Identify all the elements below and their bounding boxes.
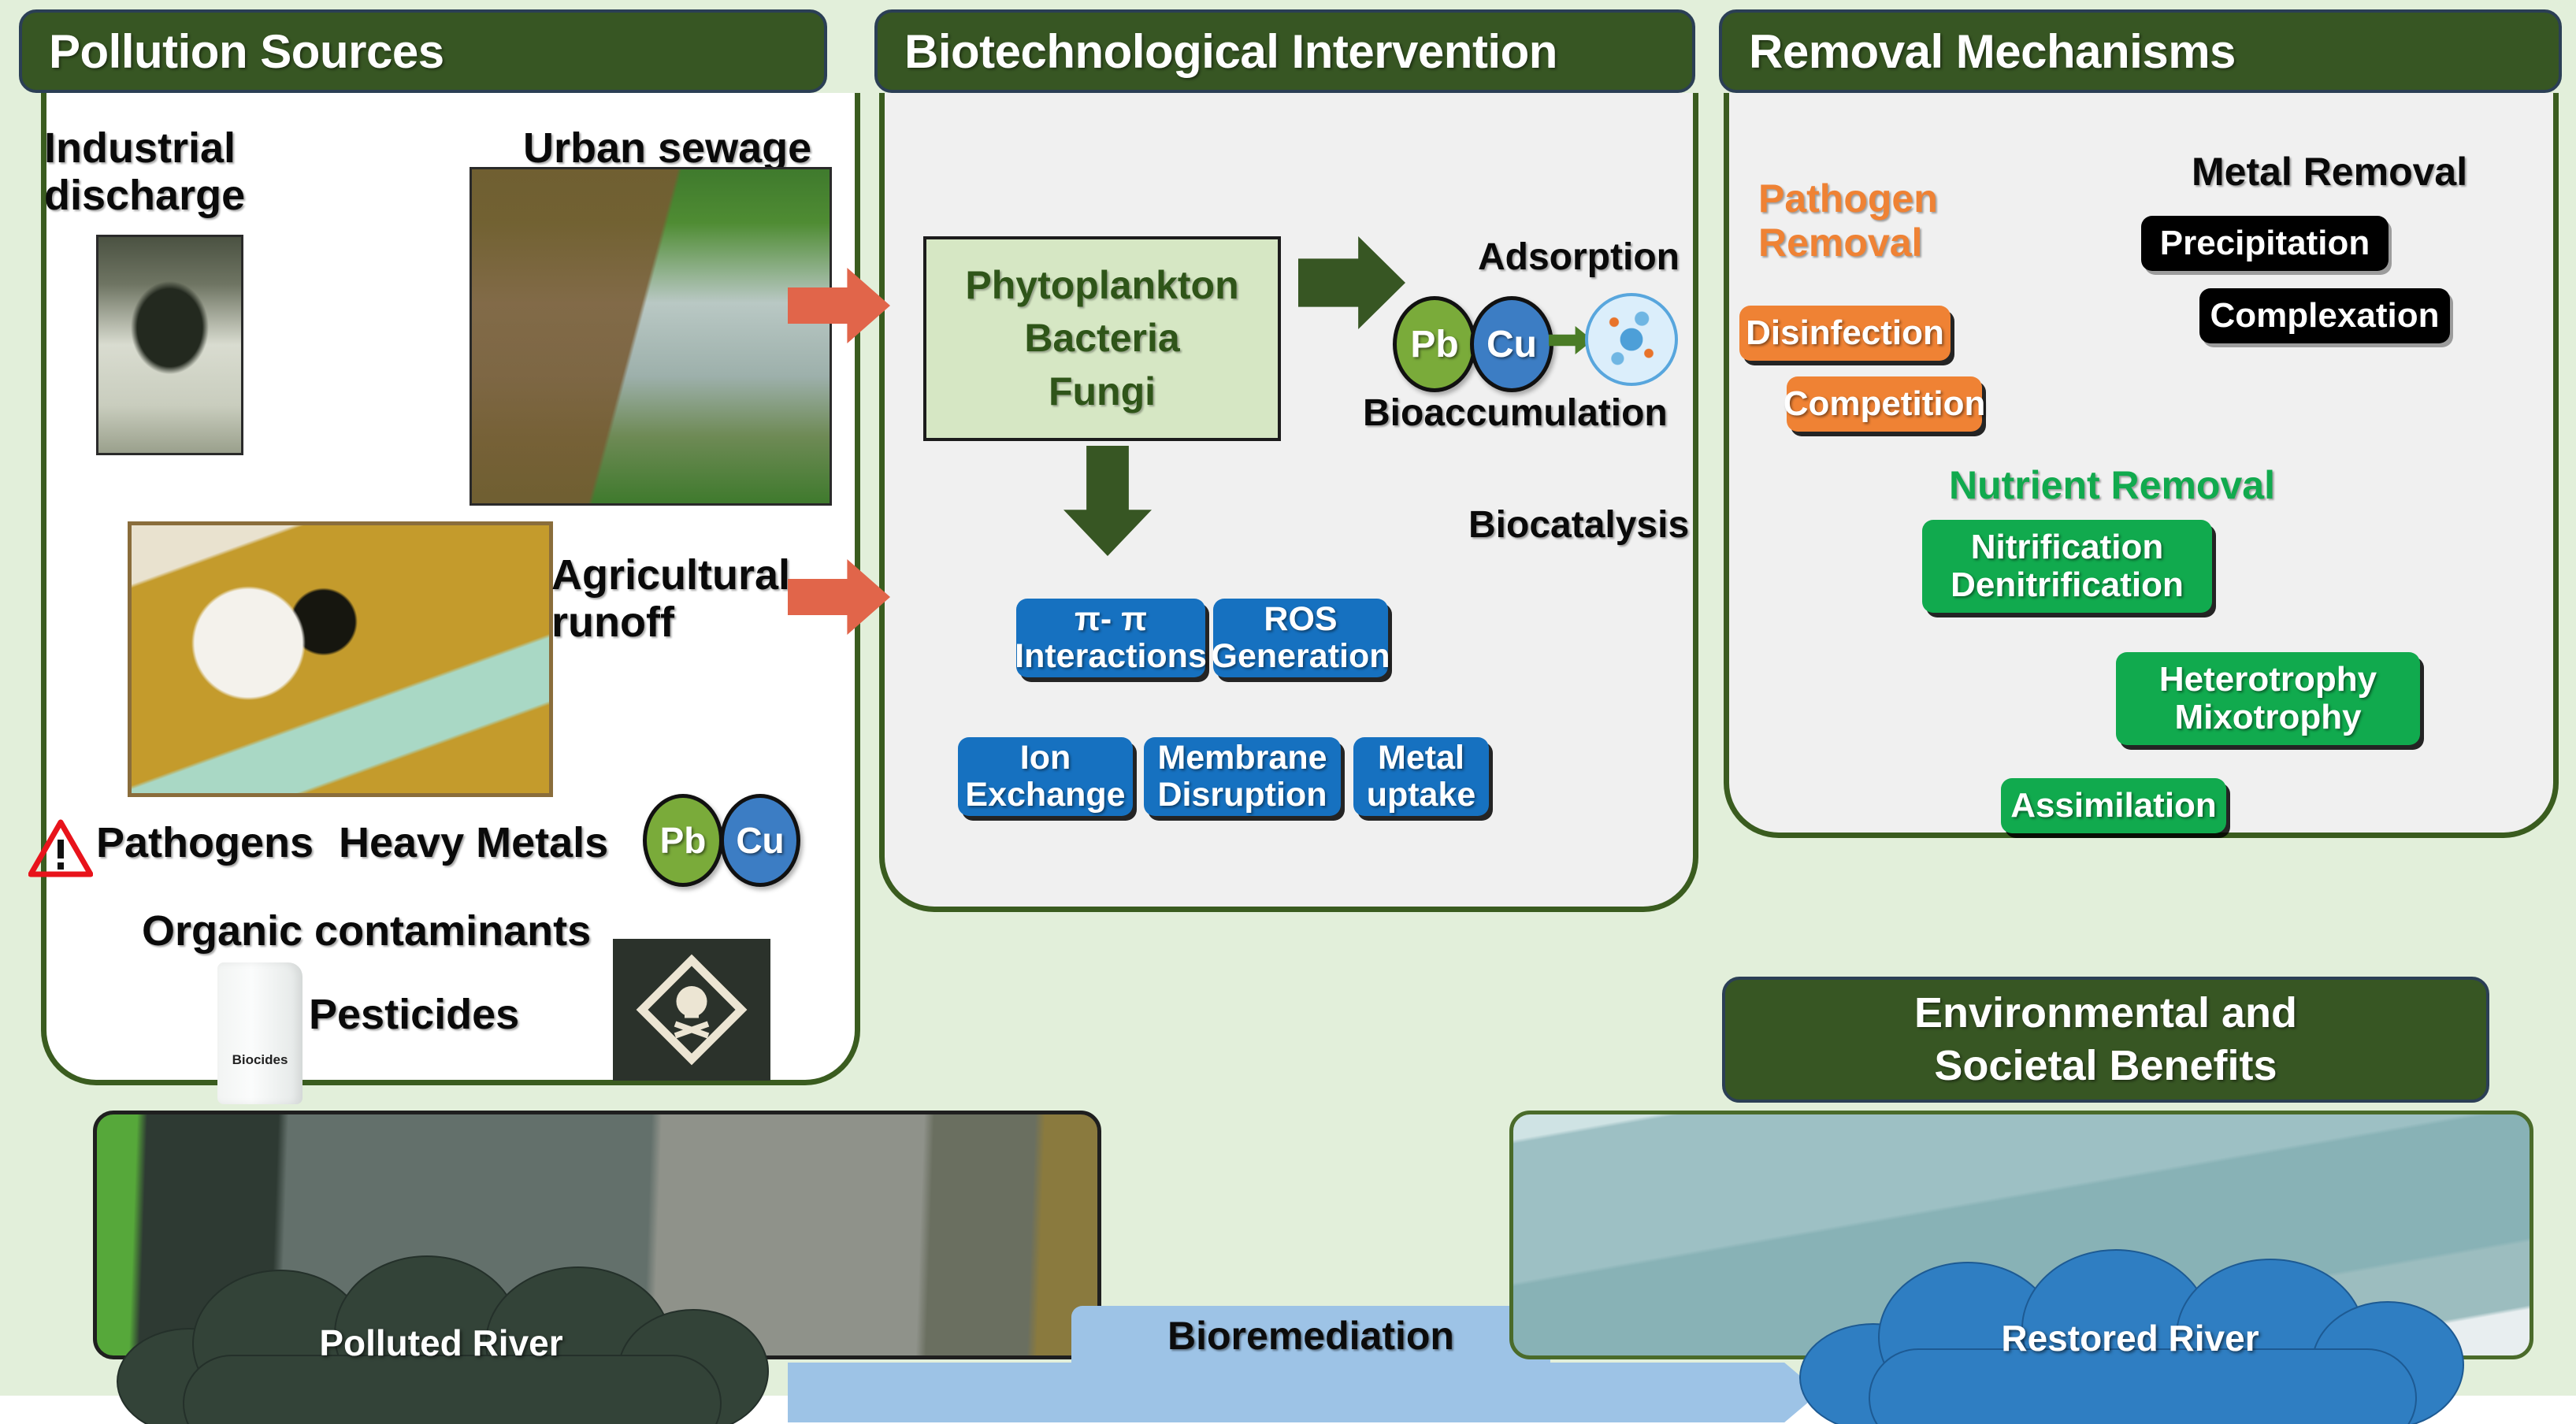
photo-urban-sewage — [470, 167, 832, 506]
benefits-line-1: Environmental and — [1914, 987, 2297, 1040]
tag-membrane-disruption[interactable]: Membrane Disruption — [1144, 737, 1341, 816]
figure-root: Pollution Sources Biotechnological Inter… — [0, 0, 2576, 1424]
label-pathogens: Pathogens — [96, 819, 314, 866]
organisms-box: Phytoplankton Bacteria Fungi — [923, 236, 1281, 441]
benefits-line-2: Societal Benefits — [1934, 1040, 2277, 1093]
photo-agricultural-runoff — [128, 521, 553, 797]
element-circle-cu-intervention: Cu — [1470, 296, 1553, 392]
tag-assimilation[interactable]: Assimilation — [2001, 778, 2226, 833]
cloud-polluted-river: Polluted River — [117, 1255, 766, 1424]
panel-header-pollution-sources: Pollution Sources — [19, 9, 827, 93]
tag-ros-generation[interactable]: ROS Generation — [1213, 599, 1388, 677]
label-metal-removal: Metal Removal — [2192, 150, 2467, 194]
bioremediation-arrow — [788, 1363, 1820, 1422]
label-adsorption: Adsorption — [1478, 236, 1680, 279]
tag-pi-pi-interactions[interactable]: π- π Interactions — [1016, 599, 1205, 677]
environmental-societal-benefits-box: Environmental and Societal Benefits — [1722, 977, 2489, 1103]
organism-bacteria: Bacteria — [1024, 312, 1179, 365]
bottle-label: Biocides — [232, 1052, 288, 1068]
tag-ion-exchange[interactable]: Ion Exchange — [958, 737, 1133, 816]
cloud-label-restored-river: Restored River — [1799, 1317, 2461, 1359]
tag-complexation[interactable]: Complexation — [2199, 288, 2450, 343]
label-pesticides: Pesticides — [309, 991, 519, 1038]
cloud-restored-river: Restored River — [1799, 1249, 2461, 1424]
tag-heterotrophy-mixotrophy[interactable]: Heterotrophy Mixotrophy — [2116, 652, 2420, 745]
label-bioaccumulation: Bioaccumulation — [1363, 392, 1668, 435]
photo-biocides-bottle: Biocides — [217, 962, 303, 1104]
panel-title-biotechnological-intervention: Biotechnological Intervention — [904, 24, 1557, 79]
label-urban-sewage: Urban sewage — [523, 124, 811, 172]
element-circle-cu-sources: Cu — [720, 794, 800, 887]
tag-competition[interactable]: Competition — [1787, 376, 1982, 432]
tag-nitrification-denitrification[interactable]: Nitrification Denitrification — [1922, 520, 2212, 613]
organism-fungi: Fungi — [1049, 365, 1156, 419]
label-biocatalysis: Biocatalysis — [1468, 504, 1689, 547]
label-organic-contaminants: Organic contaminants — [142, 907, 591, 955]
cloud-label-polluted-river: Polluted River — [117, 1322, 766, 1364]
label-industrial-discharge: Industrial discharge — [44, 124, 245, 220]
photo-toxic-hazard-icon — [613, 939, 770, 1081]
panel-header-removal-mechanisms: Removal Mechanisms — [1719, 9, 2562, 93]
panel-title-removal-mechanisms: Removal Mechanisms — [1749, 24, 2236, 79]
bioremediation-label-tab: Bioremediation — [1071, 1306, 1550, 1366]
tag-precipitation[interactable]: Precipitation — [2141, 216, 2389, 271]
label-nutrient-removal: Nutrient Removal — [1949, 463, 2275, 507]
element-circle-pb-sources: Pb — [643, 794, 723, 887]
tag-disinfection[interactable]: Disinfection — [1739, 306, 1951, 361]
panel-header-biotechnological-intervention: Biotechnological Intervention — [874, 9, 1695, 93]
cell-icon — [1585, 293, 1678, 386]
photo-industrial-discharge — [96, 235, 243, 455]
organism-phytoplankton: Phytoplankton — [965, 259, 1238, 313]
label-heavy-metals: Heavy Metals — [339, 819, 608, 866]
label-agricultural-runoff: Agricultural runoff — [551, 551, 790, 647]
tag-metal-uptake[interactable]: Metal uptake — [1353, 737, 1489, 816]
label-pathogen-removal: Pathogen Removal — [1758, 176, 1938, 265]
label-bioremediation: Bioremediation — [1167, 1313, 1454, 1359]
panel-title-pollution-sources: Pollution Sources — [49, 24, 444, 79]
warning-triangle-icon — [28, 819, 93, 877]
element-circle-pb-intervention: Pb — [1393, 296, 1476, 392]
